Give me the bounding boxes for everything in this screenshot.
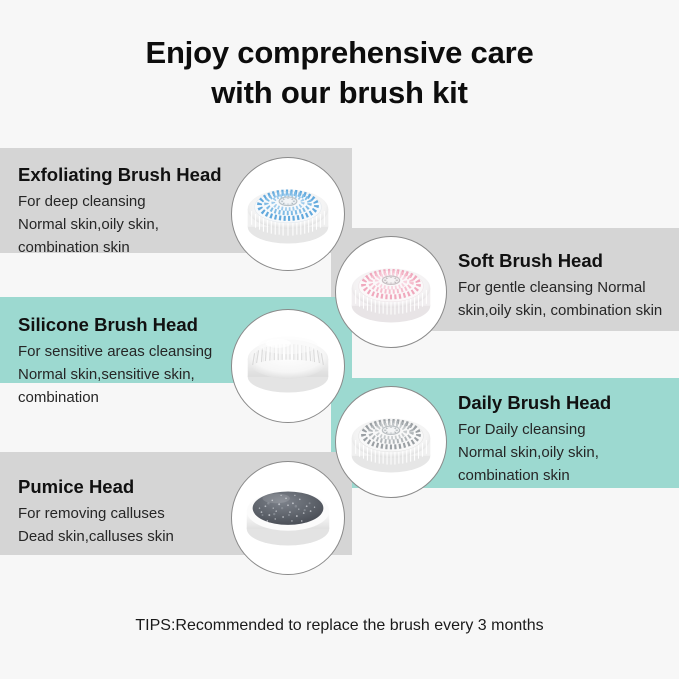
silicone-line-3: combination	[18, 387, 212, 410]
text-block-daily: Daily Brush Head For Daily cleansing Nor…	[458, 392, 611, 488]
text-block-silicone: Silicone Brush Head For sensitive areas …	[18, 314, 212, 410]
pumice-head-svg	[232, 462, 344, 574]
page-title-line-1: Enjoy comprehensive care	[0, 33, 679, 73]
text-block-exfoliating: Exfoliating Brush Head For deep cleansin…	[18, 164, 222, 260]
exfoliating-line-1: For deep cleansing	[18, 191, 222, 214]
text-block-pumice: Pumice Head For removing calluses Dead s…	[18, 476, 174, 549]
page-title-line-2: with our brush kit	[0, 73, 679, 113]
exfoliating-title: Exfoliating Brush Head	[18, 164, 222, 186]
exfoliating-line-2: Normal skin,oily skin,	[18, 214, 222, 237]
soft-brush-head-image	[335, 236, 447, 348]
pumice-line-1: For removing calluses	[18, 503, 174, 526]
exfoliating-brush-svg	[232, 158, 344, 270]
daily-brush-head-image	[335, 386, 447, 498]
tips-text: TIPS:Recommended to replace the brush ev…	[0, 617, 679, 635]
daily-title: Daily Brush Head	[458, 392, 611, 414]
soft-title: Soft Brush Head	[458, 250, 662, 272]
page-title: Enjoy comprehensive care with our brush …	[0, 33, 679, 112]
silicone-brush-svg	[232, 310, 344, 422]
exfoliating-line-3: combination skin	[18, 237, 222, 260]
pumice-head-image	[231, 461, 345, 575]
pumice-title: Pumice Head	[18, 476, 174, 498]
daily-line-1: For Daily cleansing	[458, 419, 611, 442]
soft-line-1: For gentle cleansing Normal	[458, 277, 662, 300]
soft-brush-svg	[336, 237, 446, 347]
soft-line-2: skin,oily skin, combination skin	[458, 300, 662, 323]
silicone-line-1: For sensitive areas cleansing	[18, 341, 212, 364]
text-block-soft: Soft Brush Head For gentle cleansing Nor…	[458, 250, 662, 323]
daily-line-3: combination skin	[458, 465, 611, 488]
daily-brush-svg	[336, 387, 446, 497]
pumice-line-2: Dead skin,calluses skin	[18, 526, 174, 549]
silicone-brush-head-image	[231, 309, 345, 423]
exfoliating-brush-head-image	[231, 157, 345, 271]
silicone-line-2: Normal skin,sensitive skin,	[18, 364, 212, 387]
product-infographic: Enjoy comprehensive care with our brush …	[0, 0, 679, 679]
daily-line-2: Normal skin,oily skin,	[458, 442, 611, 465]
silicone-title: Silicone Brush Head	[18, 314, 212, 336]
